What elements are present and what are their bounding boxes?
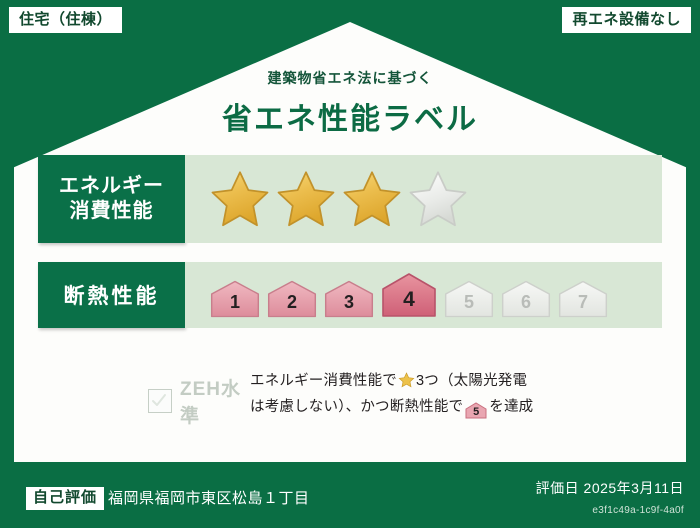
inline-insulation-badge-icon: 5 [465, 402, 487, 419]
renewable-equipment-tag: 再エネ設備なし [561, 6, 692, 34]
insulation-level-2: 2 [266, 279, 318, 319]
insulation-level-4: 4 [380, 271, 438, 319]
desc-part2: 3つ（太陽光発電 [416, 373, 527, 389]
insulation-performance-value: 1234567 [185, 262, 662, 328]
title-block: 建築物省エネ法に基づく 省エネ性能ラベル [0, 68, 700, 138]
page-title: 省エネ性能ラベル [0, 94, 700, 138]
inline-star-icon [398, 372, 415, 396]
star-filled-icon [341, 169, 403, 229]
summary-area: ZEH水準 エネルギー消費性能で3つ（太陽光発電 は考慮しない）、かつ断熱性能で… [38, 362, 662, 428]
insulation-label-text: 断熱性能 [64, 280, 160, 310]
energy-performance-row: エネルギー 消費性能 [38, 155, 662, 243]
property-address: 福岡県福岡市東区松島１丁目 [108, 487, 310, 508]
title-subtitle: 建築物省エネ法に基づく [0, 68, 700, 88]
insulation-level-1: 1 [209, 279, 261, 319]
insulation-level-number: 1 [230, 292, 240, 319]
evaluation-date: 評価日 2025年3月11日 [536, 478, 684, 498]
insulation-level-number: 7 [578, 292, 588, 319]
energy-label-line2: 消費性能 [70, 199, 154, 224]
insulation-level-number: 3 [344, 292, 354, 319]
insulation-level-scale: 1234567 [209, 271, 609, 319]
insulation-level-7: 7 [557, 279, 609, 319]
evaluation-id: e3f1c49a-1c9f-4a0f [592, 505, 684, 516]
achievement-description: エネルギー消費性能で3つ（太陽光発電 は考慮しない）、かつ断熱性能で5を達成 [250, 362, 662, 420]
star-rating [209, 169, 469, 229]
insulation-level-number: 6 [521, 292, 531, 319]
self-evaluation-badge: 自己評価 [26, 487, 104, 511]
insulation-performance-label: 断熱性能 [38, 262, 185, 328]
energy-performance-value [185, 155, 662, 243]
energy-label-card: 住宅（住棟） 再エネ設備なし 建築物省エネ法に基づく 省エネ性能ラベル エネルギ… [0, 0, 700, 528]
star-filled-icon [209, 169, 271, 229]
checkbox-icon [148, 389, 172, 413]
energy-label-line1: エネルギー [59, 174, 164, 199]
star-empty-icon [407, 169, 469, 229]
building-type-tag: 住宅（住棟） [8, 6, 123, 34]
energy-performance-label: エネルギー 消費性能 [38, 155, 185, 243]
footer-bar: 自己評価 福岡県福岡市東区松島１丁目 評価日 2025年3月11日 e3f1c4… [0, 466, 700, 528]
insulation-level-3: 3 [323, 279, 375, 319]
desc-part4: を達成 [489, 399, 533, 415]
insulation-level-number: 5 [464, 292, 474, 319]
desc-part3: は考慮しない）、かつ断熱性能で [250, 399, 463, 415]
insulation-level-6: 6 [500, 279, 552, 319]
zeh-label: ZEH水準 [180, 374, 250, 428]
insulation-level-number: 2 [287, 292, 297, 319]
insulation-performance-row: 断熱性能 1234567 [38, 262, 662, 328]
insulation-level-number: 4 [403, 288, 415, 319]
desc-part1: エネルギー消費性能で [250, 373, 397, 389]
zeh-standard-indicator: ZEH水準 [38, 362, 250, 428]
inline-badge-number: 5 [465, 402, 487, 422]
star-filled-icon [275, 169, 337, 229]
insulation-level-5: 5 [443, 279, 495, 319]
